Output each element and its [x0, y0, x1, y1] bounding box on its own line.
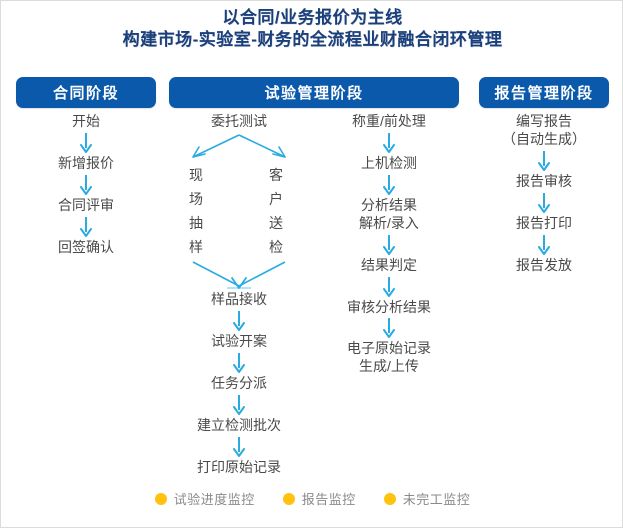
arrow-down-icon [16, 131, 156, 155]
flow-node[interactable]: 合同评审 [16, 197, 156, 215]
flow-node[interactable]: 新增报价 [16, 155, 156, 173]
arrow-down-icon [319, 316, 459, 340]
dot-icon [384, 493, 396, 505]
flow-node[interactable]: 分析结果 解析/录入 [319, 197, 459, 233]
branch-merge-icon [169, 259, 309, 291]
branch-label-right[interactable]: 客户送检 [265, 163, 287, 259]
arrow-down-icon [169, 351, 309, 375]
flow-node[interactable]: 报告打印 [479, 215, 609, 233]
flow-node[interactable]: 编写报告 （自动生成） [479, 113, 609, 149]
title-line-1: 以合同/业务报价为主线 [1, 7, 623, 29]
arrow-down-icon [169, 435, 309, 459]
arrow-down-icon [319, 275, 459, 299]
arrow-down-icon [16, 215, 156, 239]
flow-node[interactable]: 审核分析结果 [319, 299, 459, 317]
stage-header-test-management[interactable]: 试验管理阶段 [169, 77, 459, 108]
stage-header-contract[interactable]: 合同阶段 [16, 77, 156, 108]
branch-split-icon [169, 133, 309, 163]
flow-node[interactable]: 开始 [16, 113, 156, 131]
arrow-down-icon [319, 173, 459, 197]
arrow-down-icon [169, 309, 309, 333]
flow-node[interactable]: 报告审核 [479, 173, 609, 191]
flow-column-test-left: 委托测试 现场抽样 客户送检 [169, 113, 309, 476]
flow-node[interactable]: 建立检测批次 [169, 417, 309, 435]
title-line-2: 构建市场-实验室-财务的全流程业财融合闭环管理 [1, 29, 623, 51]
arrow-down-icon [319, 233, 459, 257]
arrow-down-icon [479, 233, 609, 257]
flow-column-contract: 开始 新增报价 合同评审 回签确认 [16, 113, 156, 257]
arrow-down-icon [319, 131, 459, 155]
branch-labels: 现场抽样 客户送检 [169, 163, 309, 259]
branch-label-left[interactable]: 现场抽样 [185, 163, 207, 259]
flow-node[interactable]: 打印原始记录 [169, 459, 309, 477]
arrow-down-icon [169, 393, 309, 417]
legend-label: 未完工监控 [403, 489, 471, 508]
legend-item-test-progress[interactable]: 试验进度监控 [155, 489, 255, 508]
flow-node[interactable]: 样品接收 [169, 291, 309, 309]
arrow-down-icon [479, 191, 609, 215]
flow-node[interactable]: 电子原始记录 生成/上传 [319, 340, 459, 376]
branch-label-right-text: 客户送检 [265, 163, 287, 259]
flow-node[interactable]: 报告发放 [479, 257, 609, 275]
legend-label: 报告监控 [302, 489, 356, 508]
arrow-down-icon [479, 149, 609, 173]
dot-icon [283, 493, 295, 505]
flow-column-test-right: 称重/前处理 上机检测 分析结果 解析/录入 结果判定 审核分析结果 电子原始记… [319, 113, 459, 376]
flow-column-report: 编写报告 （自动生成） 报告审核 报告打印 报告发放 [479, 113, 609, 275]
stage-header-report-management[interactable]: 报告管理阶段 [479, 77, 609, 108]
dot-icon [155, 493, 167, 505]
legend-label: 试验进度监控 [174, 489, 255, 508]
flow-node[interactable]: 试验开案 [169, 333, 309, 351]
branch-label-left-text: 现场抽样 [185, 163, 207, 259]
flow-node[interactable]: 任务分派 [169, 375, 309, 393]
flow-node[interactable]: 委托测试 [169, 113, 309, 131]
flow-node[interactable]: 称重/前处理 [319, 113, 459, 131]
flow-node[interactable]: 上机检测 [319, 155, 459, 173]
arrow-down-icon [16, 173, 156, 197]
flow-node[interactable]: 回签确认 [16, 239, 156, 257]
flowchart-page: 以合同/业务报价为主线 构建市场-实验室-财务的全流程业财融合闭环管理 合同阶段… [0, 0, 623, 528]
flow-node[interactable]: 结果判定 [319, 257, 459, 275]
legend-item-unfinished-monitor[interactable]: 未完工监控 [384, 489, 471, 508]
legend-item-report-monitor[interactable]: 报告监控 [283, 489, 356, 508]
legend: 试验进度监控 报告监控 未完工监控 [1, 489, 623, 508]
page-title: 以合同/业务报价为主线 构建市场-实验室-财务的全流程业财融合闭环管理 [1, 7, 623, 52]
